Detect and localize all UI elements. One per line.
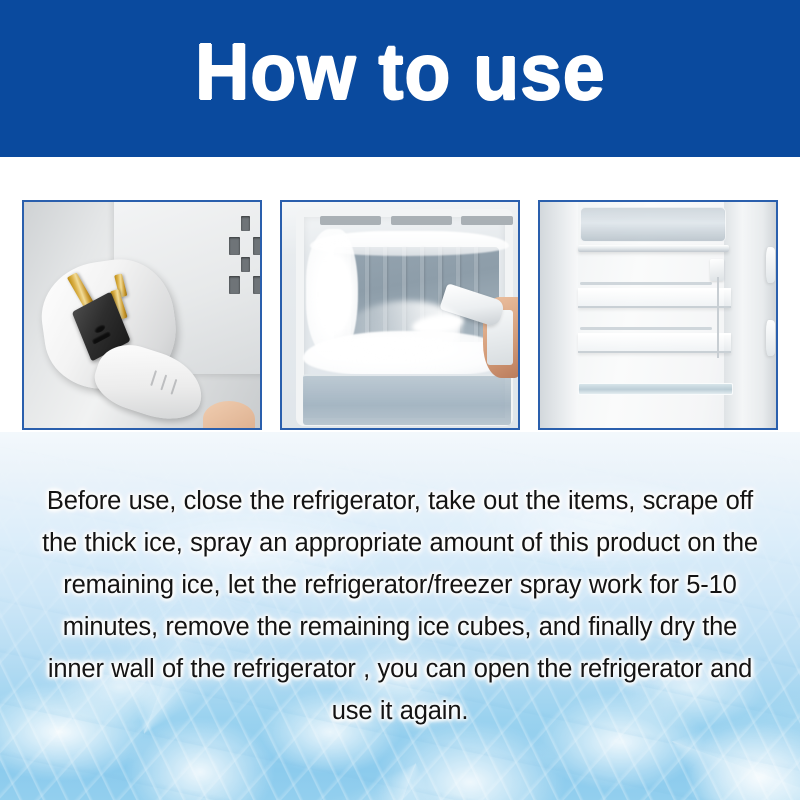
wire-shelf xyxy=(578,333,731,353)
clean-empty-fridge-photo xyxy=(538,200,778,430)
door-shelf xyxy=(766,320,775,356)
socket-slot xyxy=(253,237,260,256)
freezer-vent xyxy=(461,216,513,225)
crisper-drawer xyxy=(580,207,726,243)
freezer-vent xyxy=(391,216,452,225)
socket-slot xyxy=(253,276,260,295)
unplug-refrigerator-photo-content xyxy=(24,202,260,428)
fridge-side-wall xyxy=(540,202,578,428)
header-gap-divider xyxy=(0,157,800,200)
ice-background-section: Before use, close the refrigerator, take… xyxy=(0,432,800,800)
header-banner: How to use xyxy=(0,0,800,157)
socket-slot xyxy=(241,216,250,231)
spray-frost-freezer-photo-content xyxy=(282,202,518,428)
interior-cable xyxy=(717,277,719,358)
freezer-vent xyxy=(320,216,381,225)
shelf-rail xyxy=(580,282,712,285)
door-shelf xyxy=(766,247,775,283)
socket-slot xyxy=(229,237,240,256)
wire-shelf xyxy=(578,288,731,308)
how-to-use-infographic: How to use xyxy=(0,0,800,800)
glass-shelf xyxy=(578,383,733,395)
clean-empty-fridge-photo-content xyxy=(540,202,776,428)
freezer-drawer xyxy=(303,374,511,426)
fridge-shelf xyxy=(578,245,729,252)
shelf-rail xyxy=(580,327,712,330)
photo-strip xyxy=(0,200,800,432)
socket-slot xyxy=(241,257,250,272)
spray-frost-freezer-photo xyxy=(280,200,520,430)
page-title: How to use xyxy=(195,32,605,112)
unplug-refrigerator-photo xyxy=(22,200,262,430)
instructions-text: Before use, close the refrigerator, take… xyxy=(34,480,766,732)
socket-slot xyxy=(229,276,240,295)
